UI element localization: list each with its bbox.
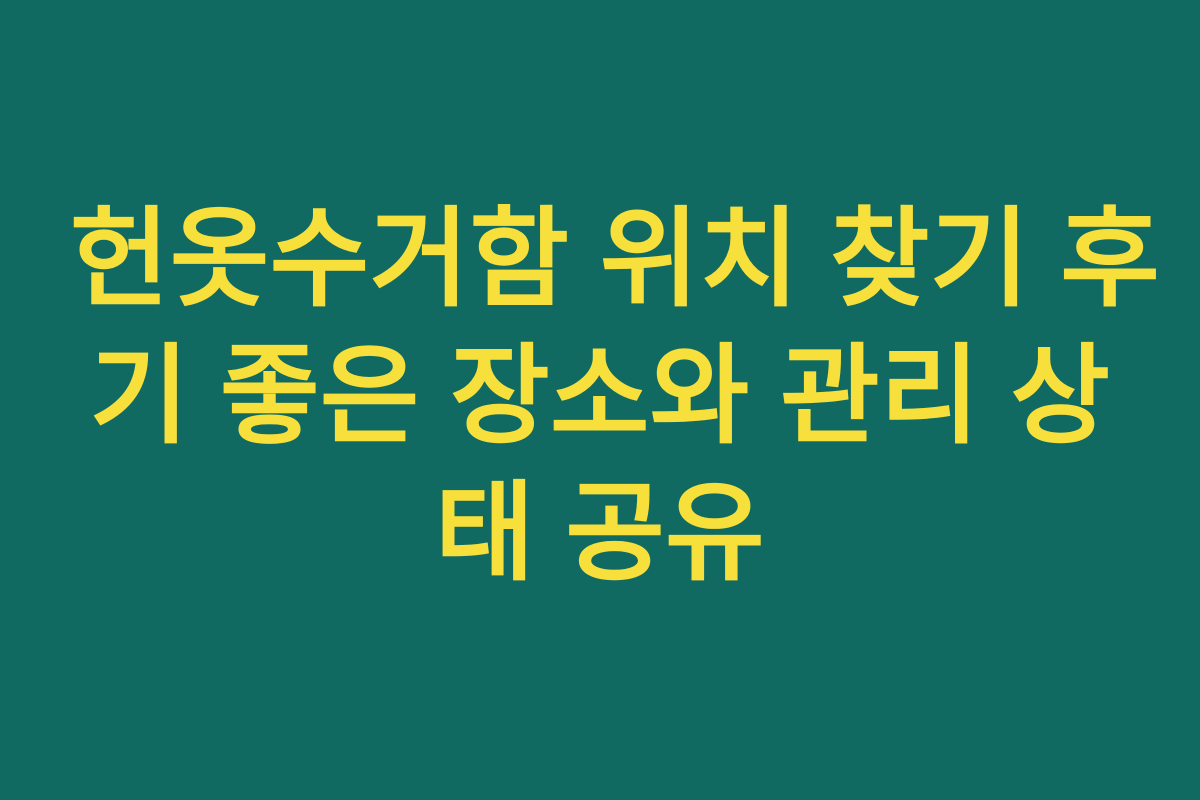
title-line-1: 헌옷수거함 위치 찾기 후	[70, 190, 1130, 327]
title-line-2: 기 좋은 장소와 관리 상	[70, 327, 1130, 464]
title-banner: 헌옷수거함 위치 찾기 후 기 좋은 장소와 관리 상 태 공유	[0, 0, 1200, 800]
page-title: 헌옷수거함 위치 찾기 후 기 좋은 장소와 관리 상 태 공유	[70, 190, 1130, 601]
title-line-3: 태 공유	[70, 464, 1130, 601]
